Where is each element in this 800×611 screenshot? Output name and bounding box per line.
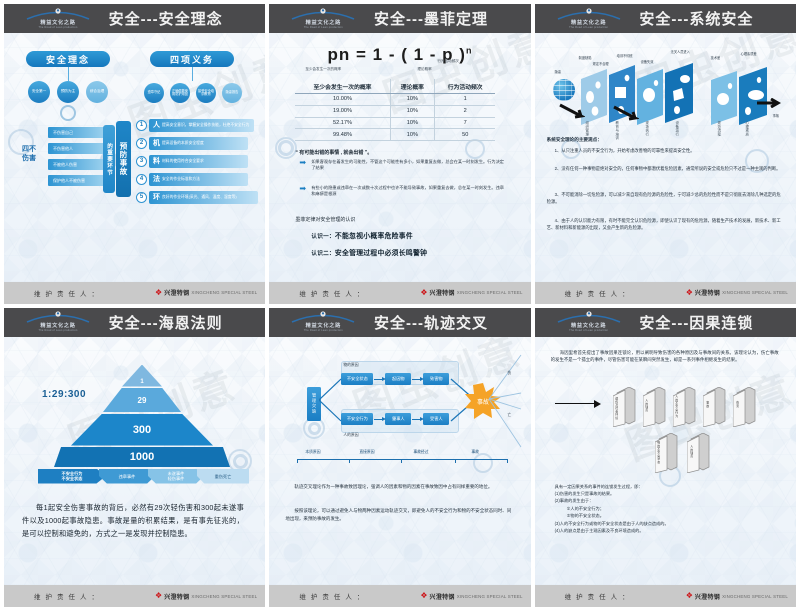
item-key: 人 [153, 120, 160, 130]
fan-label: 亡 [507, 413, 511, 418]
logo-text-en: The Road of Lean production [39, 329, 78, 333]
murphy-bullet: ➡ 有些小的隐患或违章在一次或数十次过程中也许不能导致事故，如果重复去做，总在某… [299, 185, 505, 198]
brand-name: 兴澄特钢 [430, 288, 455, 297]
timeline-axis [297, 459, 507, 460]
item-desc: 安全的作业标准和方法 [162, 177, 200, 182]
brand-logo: 精益文化之路 The Road of Lean production [22, 8, 94, 30]
item-key: 环 [153, 192, 160, 202]
cell: 10% [390, 94, 434, 106]
duty-node: 遵章守纪 [144, 83, 164, 103]
pyramid-level-1: 1 [122, 365, 162, 387]
panel-footer: 维 护 责 任 人 ： ❖ 兴澄特钢 XINGCHENG SPECIAL STE… [269, 585, 530, 607]
table-row: 52.17% 10% 7 [295, 117, 495, 129]
chevron-step: 不安全行为 不安全状态 [38, 469, 106, 484]
logo-arc-icon [290, 8, 356, 20]
page-title: 安全---海恩法则 [94, 312, 265, 333]
footer-brand: ❖ 兴澄特钢 XINGCHENG SPECIAL STEEL [155, 592, 257, 601]
axis-tick [349, 459, 350, 463]
item-desc: 材料的使用符合安全要求 [162, 159, 204, 164]
cell: 99.48% [295, 129, 390, 141]
cell: 2 [435, 105, 496, 117]
panel-body: 图虫创意 安全理念 安全第一 预防为主 综合治理 四项义务 遵章守纪 正确佩戴使… [4, 33, 265, 282]
logo-text-en: The Road of Lean production [39, 26, 78, 30]
pyramid-level: 29 [52, 388, 232, 412]
four-no-harm-label: 四不 伤害 [16, 145, 42, 163]
brand-mark-icon: ❖ [420, 289, 427, 297]
no-harm-item: 不伤害自己 [48, 127, 106, 138]
col-header: 至少会发生一次的概率 [295, 79, 390, 94]
brand-name: 兴澄特钢 [695, 288, 720, 297]
panel-footer: 维 护 责 任 人 ： ❖ 兴澄特钢 XINGCHENG SPECIAL STE… [269, 282, 530, 304]
footer-owner-label: 维 护 责 任 人 ： [565, 288, 631, 298]
system-safety-point: 1、从只注重人员的不安全行为，开始考虑改善物的可靠性来提高安全性。 [547, 147, 781, 154]
panel-body: 图虫创意 pn = 1 - ( 1 - p )n 行为活动频次 至少会发生一次的… [269, 33, 530, 282]
brand-sub: XINGCHENG SPECIAL STEEL [191, 594, 257, 599]
plate-top-label: 物的原因 [343, 363, 358, 368]
axis-tick [297, 459, 298, 463]
key-links-ribbon-sub: 的重要环节 [103, 125, 115, 193]
slice-bottom-label: 设备运行 [675, 121, 680, 136]
duty-pill-b: 四项义务 [150, 51, 234, 67]
list-item: (4)人的缺点是由于主观因素及不良环境造成的。 [555, 527, 775, 534]
flow-arrow-icon [757, 95, 781, 113]
panel-header: 精益文化之路 The Road of Lean production 安全---… [269, 308, 530, 337]
page-title: 安全---因果连锁 [625, 312, 796, 333]
concept-node: 安全第一 [28, 81, 50, 103]
logo-text-en: The Road of Lean production [569, 26, 608, 30]
probability-table: 至少会发生一次的概率 理论概率 行为活动频次 10.00% 10% 1 19.0… [295, 79, 495, 141]
domino-tile: 人的缺点 [643, 387, 659, 421]
murphy-formula: pn = 1 - ( 1 - p )n [269, 45, 530, 65]
logo-text-en: The Road of Lean production [304, 329, 343, 333]
concept-node: 预防为主 [57, 81, 79, 103]
item-body: 环 良好的作业环境(采光、通风、温度、湿度等) [149, 191, 258, 204]
key-links-ribbon-main: 预防事故 [116, 121, 131, 197]
causal-intro: 海因里希首先提出了事故因果连锁论，用以阐明导致伤害的各种原因及与事故间的关系。该… [551, 349, 779, 364]
footer-owner-label: 维 护 责 任 人 ： [299, 591, 365, 601]
barrier-slice [711, 71, 741, 125]
recognition-item: 认识一：不能忽视小概率危险事件 [311, 230, 413, 240]
no-harm-text: 不伤害自己 [53, 130, 73, 136]
item-body: 机 提高设备的本质安全程度 [149, 137, 248, 150]
pyramid-level: 1000 [52, 447, 232, 467]
domino-label: 人的不安全行为 [675, 395, 679, 417]
domino-label: 人的缺点 [690, 445, 694, 458]
no-harm-item: 不被他人伤害 [48, 159, 106, 170]
list-item: ②物的不安全状态。 [555, 512, 775, 519]
no-harm-text: 保护他人不被伤害 [53, 178, 85, 184]
no-harm-text: 不被他人伤害 [53, 162, 77, 168]
item-body: 料 材料的使用符合安全要求 [149, 155, 248, 168]
axis-tick [507, 459, 508, 463]
system-safety-head: 系统安全理论的主要观点： [547, 137, 602, 143]
logo-arc-icon [290, 311, 356, 323]
domino-tile: 遗传及社会环境 [613, 387, 629, 421]
domino-label: 遗传及社会环境 [615, 397, 619, 419]
brand-mark-icon: ❖ [686, 592, 693, 600]
connector [68, 67, 69, 81]
page-title: 安全---安全理念 [94, 8, 265, 29]
pyramid-level: 300 [52, 414, 232, 446]
chevron-flow: 不安全行为 不安全状态 违章事件 未遂事件 轻伤事件 重伤死亡 [38, 469, 249, 484]
brand-logo: 精益文化之路 The Road of Lean production [22, 311, 94, 333]
footer-brand: ❖ 兴澄特钢 XINGCHENG SPECIAL STEEL [155, 288, 257, 297]
page-title: 安全---轨迹交叉 [359, 312, 530, 333]
fan-lines [475, 353, 523, 449]
list-item: ①人的不安全行为； [555, 505, 775, 512]
cell: 50 [435, 129, 496, 141]
murphy-subhead: 墨菲定律对安全管理的认识 [295, 216, 355, 223]
duty-node: 隐患报告 [222, 83, 242, 103]
key-link-item: 5 环 良好的作业环境(采光、通风、温度、湿度等) [136, 191, 258, 204]
axis-label: 直接原因 [359, 450, 374, 455]
heinrich-pyramid-chart: 1:29:300 1 29 300 1000 不安全行 [4, 337, 265, 586]
item-body: 法 安全的作业标准和方法 [149, 173, 248, 186]
cell: 10% [390, 129, 434, 141]
slice-top-label: 技术差 [711, 55, 721, 60]
brand-name: 兴澄特钢 [164, 592, 189, 601]
slice-top-label: 制度缺陷 [579, 55, 592, 60]
murphy-quote: “ 有可能出错的事情 , 就会出错 ”。 [295, 149, 372, 156]
no-harm-text: 不伤害他人 [53, 146, 73, 152]
footer-brand: ❖ 兴澄特钢 XINGCHENG SPECIAL STEEL [420, 592, 522, 601]
no-harm-item: 保护他人不被伤害 [48, 175, 106, 186]
recognition-text: 安全管理过程中必须长鸣警钟 [335, 250, 427, 257]
item-key: 机 [153, 138, 160, 148]
axis-label: 事故经过 [413, 450, 428, 455]
barrier-slice [665, 63, 697, 123]
cell: 10% [390, 117, 434, 129]
panel-system-safety: 精益文化之路 The Road of Lean production 安全---… [535, 4, 796, 304]
formula-note-right: 理论概率 [417, 67, 431, 72]
brand-sub: XINGCHENG SPECIAL STEEL [722, 290, 788, 295]
bullet-text: 有些小的隐患或违章在一次或数十次过程中也许不能导致事故，如果重复去做，总在某一时… [311, 185, 505, 198]
panel-causal-chain: 精益文化之路 The Road of Lean production 安全---… [535, 308, 796, 608]
slice-top-label: 心理素质差 [741, 51, 757, 56]
brand-mark-icon: ❖ [420, 592, 427, 600]
brand-name: 兴澄特钢 [695, 592, 720, 601]
panel-footer: 维 护 责 任 人 ： ❖ 兴澄特钢 XINGCHENG SPECIAL STE… [4, 585, 265, 607]
item-desc: 提高安全意识，掌握安全操作技能，杜绝不安全行为 [162, 123, 249, 128]
logo-text-en: The Road of Lean production [304, 26, 343, 30]
table-row: 99.48% 10% 50 [295, 129, 495, 141]
recognition-tag: 认识一： [311, 234, 335, 240]
cell: 10.00% [295, 94, 390, 106]
domino-tile: 物的不安全状态 [655, 433, 671, 467]
slice-top-label: 无关人员进入 [671, 49, 690, 54]
system-safety-point: 4、由于人的认识能力有限，有时不能完全认识危险源，即使认识了现有的危险源，随着生… [547, 217, 781, 232]
flow-arrow-icon [555, 403, 595, 405]
panel-body: 图虫创意 海因里希首先提出了事故因果连锁论，用以阐明导致伤害的各种原因及与事故间… [535, 337, 796, 586]
pyramid: 1 29 300 1000 [52, 365, 232, 469]
footer-owner-label: 维 护 责 任 人 ： [565, 591, 631, 601]
panel-header: 精益文化之路 The Road of Lean production 安全---… [269, 4, 530, 33]
axis-label: 本质原因 [305, 450, 320, 455]
ring-decor-icon [60, 105, 76, 121]
item-desc: 良好的作业环境(采光、通风、温度、湿度等) [162, 195, 237, 200]
chain-bottom-node: 受害人 [423, 413, 449, 425]
domino-tile: 伤害 [733, 387, 749, 421]
recognition-item: 认识二：安全管理过程中必须长鸣警钟 [311, 247, 427, 257]
key-link-item: 3 料 材料的使用符合安全要求 [136, 155, 248, 168]
chevron-step: 违章事件 [99, 469, 155, 484]
poster-sheet: 精益文化之路 The Road of Lean production 安全---… [0, 0, 800, 611]
item-number: 2 [136, 138, 147, 149]
logo-arc-icon [25, 311, 91, 323]
heinrich-paragraph: 每1起安全伤害事故的背后，必然有29次轻伤害和300起未遂事件以及1000起事故… [22, 501, 244, 540]
panel-body: 图虫创意 物的原因 人的原因 管理欠缺 不安全状态 起因物 致害物 不安全行为 … [269, 337, 530, 586]
brand-logo: 精益文化之路 The Road of Lean production [287, 311, 359, 333]
domino-label: 人的缺点 [645, 399, 649, 412]
brand-sub: XINGCHENG SPECIAL STEEL [457, 594, 523, 599]
key-link-item: 1 人 提高安全意识，掌握安全操作技能，杜绝不安全行为 [136, 119, 254, 132]
brand-logo: 精益文化之路 The Road of Lean production [553, 311, 625, 333]
chain-arrow-icon [374, 419, 383, 420]
domino-tile: 事故 [703, 387, 719, 421]
recognition-text: 不能忽视小概率危险事件 [335, 233, 413, 240]
duty-node: 接受安全培训教育 [196, 83, 216, 103]
brand-logo: 精益文化之路 The Road of Lean production [553, 8, 625, 30]
domino-diagram: 海因里希首先提出了事故因果连锁论，用以阐明导致伤害的各种原因及与事故间的关系。该… [535, 337, 796, 586]
brand-logo: 精益文化之路 The Road of Lean production [287, 8, 359, 30]
slice-top-label: 规定不合理 [593, 61, 609, 66]
slice-bottom-label: 组织管理 [585, 121, 590, 136]
item-number: 4 [136, 174, 147, 185]
slice-bottom-label: 心理素质 [745, 121, 750, 136]
murphy-bullet: ➡ 如果客观存在着发生的可能性，不管这个可能性有多小，如果重复去做，总会在某一时… [299, 159, 505, 172]
chevron-step: 重伤死亡 [197, 469, 249, 484]
item-desc: 提高设备的本质安全程度 [162, 141, 204, 146]
formula-exponent-note: 行为活动频次 [437, 59, 459, 64]
panel-murphys-law: 精益文化之路 The Road of Lean production 安全---… [269, 4, 530, 304]
domino-label: 伤害 [736, 401, 740, 407]
arrow-right-icon: ➡ [299, 159, 308, 166]
outcome-label: 事故 [773, 113, 779, 118]
cell: 10% [390, 105, 434, 117]
chain-bottom-node: 肇事人 [385, 413, 411, 425]
item-number: 3 [136, 156, 147, 167]
system-safety-point: 3、不可能消除一切危险源，可以减少来自现有危险源的危险性，宁可减少总的危险性而不… [547, 191, 781, 206]
domino-tile: 人的不安全行为 [673, 387, 689, 421]
item-number: 5 [136, 192, 147, 203]
logo-text-en: The Road of Lean production [569, 329, 608, 333]
formula-note-left: 至少会发生一次的概率 [305, 67, 341, 72]
bullet-text: 如果客观存在着发生的可能性，不管这个可能性有多小，如果重复去做，总会在某一时刻发… [311, 159, 505, 172]
panel-safety-concept: 精益文化之路 The Road of Lean production 安全---… [4, 4, 265, 304]
domino-tile: 人的缺点 [687, 433, 703, 467]
footer-brand: ❖ 兴澄特钢 XINGCHENG SPECIAL STEEL [420, 288, 522, 297]
slice-top-label: 培训不彻底 [617, 53, 633, 58]
brand-mark-icon: ❖ [155, 592, 162, 600]
flow-arrow-icon [559, 103, 585, 124]
chain-top-node: 致害物 [423, 373, 449, 385]
brand-name: 兴澄特钢 [164, 288, 189, 297]
barrier-slice [637, 69, 667, 125]
footer-owner-label: 维 护 责 任 人 ： [34, 288, 100, 298]
domino-label: 物的不安全状态 [657, 441, 661, 463]
item-key: 料 [153, 156, 160, 166]
brand-mark-icon: ❖ [155, 289, 162, 297]
trajectory-paragraph: 轨迹交叉理论作为一种事故致因理论，强调人的因素和物的因素在事故致因中占有同样重要… [285, 483, 511, 491]
domino-label: 事故 [706, 401, 710, 407]
panel-header: 精益文化之路 The Road of Lean production 安全---… [4, 4, 265, 33]
cell: 19.00% [295, 105, 390, 117]
panel-header: 精益文化之路 The Road of Lean production 安全---… [535, 308, 796, 337]
branch-lines [319, 373, 345, 427]
barrier-slice [581, 69, 611, 125]
footer-owner-label: 维 护 责 任 人 ： [299, 288, 365, 298]
axis-tick [401, 459, 402, 463]
chevron-step: 未遂事件 轻伤事件 [148, 469, 204, 484]
arrow-right-icon: ➡ [299, 185, 308, 192]
list-item: (1)伤害的发生只是事故的结果。 [555, 490, 775, 497]
brand-sub: XINGCHENG SPECIAL STEEL [191, 290, 257, 295]
page-title: 安全---系统安全 [625, 8, 796, 29]
list-head: 具有一定因果关系的事件的连锁发生过程，即： [555, 483, 775, 490]
connector [192, 67, 193, 81]
chain-arrow-icon [412, 419, 421, 420]
trajectory-diagram: 物的原因 人的原因 管理欠缺 不安全状态 起因物 致害物 不安全行为 肇事人 受… [269, 337, 530, 586]
list-item: (3)人的不安全行为或物的不安全状态是由于人的缺点造成的。 [555, 520, 775, 527]
logo-arc-icon [25, 8, 91, 20]
pyramid-level: 1 [52, 365, 232, 387]
brand-name: 兴澄特钢 [430, 592, 455, 601]
page-title: 安全---墨菲定理 [359, 8, 530, 29]
pyramid-level-2: 29 [103, 388, 181, 412]
slice-bottom-label: 现场执行 [645, 121, 650, 136]
concept-pill-a: 安全理念 [26, 51, 110, 67]
axis-tick [455, 459, 456, 463]
pyramid-level-3: 300 [71, 414, 213, 446]
causal-list: 具有一定因果关系的事件的连锁发生过程，即： (1)伤害的发生只是事故的结果。 (… [555, 483, 775, 535]
panel-footer: 维 护 责 任 人 ： ❖ 兴澄特钢 XINGCHENG SPECIAL STE… [535, 585, 796, 607]
chain-arrow-icon [412, 379, 421, 380]
recognition-tag: 认识二： [311, 251, 335, 257]
system-safety-point: 2、没有任何一种事物是绝对安全的，任何事物中都潜伏着危险因素，通常所说的安全或危… [547, 165, 781, 172]
panel-body: 图虫创意 隐患 [535, 33, 796, 282]
hazard-globe-icon [553, 79, 575, 101]
panel-trajectory-crossing: 精益文化之路 The Road of Lean production 安全---… [269, 308, 530, 608]
fan-label: 伤 [507, 371, 511, 376]
brand-sub: XINGCHENG SPECIAL STEEL [722, 594, 788, 599]
source-label: 隐患 [555, 69, 561, 74]
list-item: (2)事故的发生由于： [555, 497, 775, 504]
axis-label: 事故 [471, 450, 479, 455]
chain-arrow-icon [374, 379, 383, 380]
slice-top-label: 设备失效 [641, 59, 654, 64]
slice-bottom-label: 规范流程 [717, 121, 722, 136]
footer-brand: ❖ 兴澄特钢 XINGCHENG SPECIAL STEEL [686, 592, 788, 601]
formula-exponent: n [466, 45, 473, 55]
table-row: 19.00% 10% 2 [295, 105, 495, 117]
item-number: 1 [136, 120, 147, 131]
footer-brand: ❖ 兴澄特钢 XINGCHENG SPECIAL STEEL [686, 288, 788, 297]
brand-mark-icon: ❖ [686, 289, 693, 297]
footer-owner-label: 维 护 责 任 人 ： [34, 591, 100, 601]
panel-body: 图虫创意 1:29:300 1 29 300 1000 [4, 337, 265, 586]
chain-top-node: 不安全状态 [341, 373, 373, 385]
chain-top-node: 起因物 [385, 373, 411, 385]
flow-arrow-icon [613, 105, 639, 126]
no-harm-item: 不伤害他人 [48, 143, 106, 154]
key-link-item: 4 法 安全的作业标准和方法 [136, 173, 248, 186]
logo-arc-icon [556, 8, 622, 20]
table-header-row: 至少会发生一次的概率 理论概率 行为活动频次 [295, 79, 495, 94]
item-body: 人 提高安全意识，掌握安全操作技能，杜绝不安全行为 [149, 119, 254, 132]
col-header: 理论概率 [390, 79, 434, 94]
key-link-item: 2 机 提高设备的本质安全程度 [136, 137, 248, 150]
panel-footer: 维 护 责 任 人 ： ❖ 兴澄特钢 XINGCHENG SPECIAL STE… [535, 282, 796, 304]
panel-header: 精益文化之路 The Road of Lean production 安全---… [535, 4, 796, 33]
duty-node: 正确佩戴使用防护用品 [170, 83, 190, 103]
pyramid-level-4: 1000 [54, 447, 230, 467]
table-row: 10.00% 10% 1 [295, 94, 495, 106]
logo-arc-icon [556, 311, 622, 323]
col-header: 行为活动频次 [435, 79, 496, 94]
cell: 52.17% [295, 117, 390, 129]
brand-sub: XINGCHENG SPECIAL STEEL [457, 290, 523, 295]
panel-footer: 维 护 责 任 人 ： ❖ 兴澄特钢 XINGCHENG SPECIAL STE… [4, 282, 265, 304]
panel-grid: 精益文化之路 The Road of Lean production 安全---… [0, 0, 800, 611]
chain-bottom-node: 不安全行为 [341, 413, 373, 425]
item-key: 法 [153, 174, 160, 184]
plate-bottom-label: 人的原因 [343, 433, 358, 438]
cell: 1 [435, 94, 496, 106]
concept-node: 综合治理 [86, 81, 108, 103]
trajectory-paragraph: 按照该理论，可以通过避免人与物两种因素运动轨迹交叉，即避免人的不安全行为和物的不… [285, 507, 511, 523]
cell: 7 [435, 117, 496, 129]
panel-header: 精益文化之路 The Road of Lean production 安全---… [4, 308, 265, 337]
panel-heinrich-law: 精益文化之路 The Road of Lean production 安全---… [4, 308, 265, 608]
